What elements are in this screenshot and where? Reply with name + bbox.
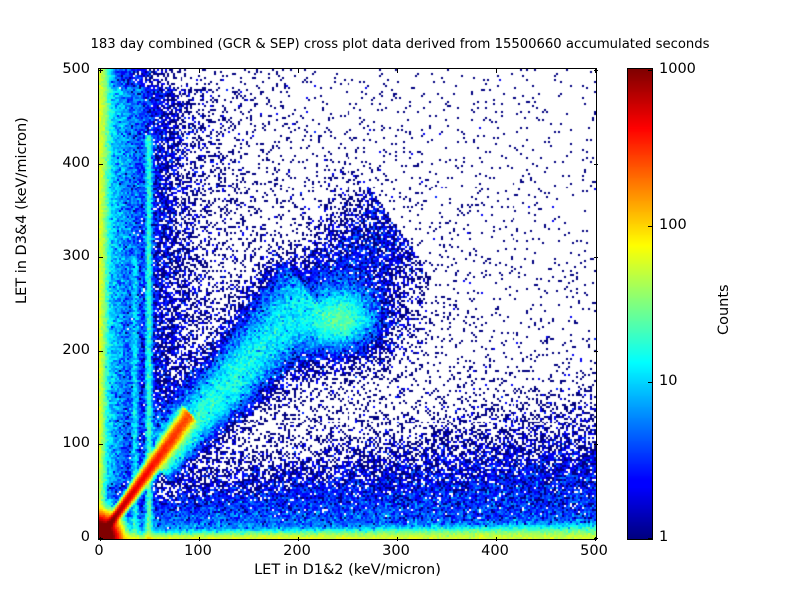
y-tick-right-400 [594,164,598,165]
y-ticklabel-200: 200 [40,342,90,358]
colorbar-tick-1000 [648,70,652,71]
colorbar-ticklabel-100: 100 [659,217,687,233]
plot-title-line-1: 183 day combined (GCR & SEP) cross plot … [0,37,800,53]
x-axis-label: LET in D1&2 (keV/micron) [98,562,597,578]
scatter-heatmap-canvas [99,69,596,539]
x-ticklabel-100: 100 [184,543,212,559]
y-tick-right-0 [594,538,598,539]
x-tick-300 [397,537,398,541]
figure-canvas: 183 day combined (GCR & SEP) cross plot … [0,0,800,600]
x-ticklabel-400: 400 [481,543,509,559]
y-ticklabel-400: 400 [40,155,90,171]
colorbar-tick-100 [648,226,652,227]
y-ticklabel-500: 500 [40,61,90,77]
x-tick-400 [496,537,497,541]
y-tick-0 [99,538,103,539]
x-tick-top-200 [298,69,299,73]
colorbar-frame [627,68,653,540]
y-tick-300 [99,257,103,258]
y-tick-100 [99,444,103,445]
y-ticklabel-0: 0 [40,529,90,545]
colorbar-gradient [628,69,652,539]
x-tick-top-100 [199,69,200,73]
x-tick-top-300 [397,69,398,73]
x-tick-100 [199,537,200,541]
x-ticklabel-0: 0 [94,543,103,559]
x-tick-200 [298,537,299,541]
x-ticklabel-200: 200 [283,543,311,559]
colorbar-ticklabel-1000: 1000 [659,61,696,77]
y-tick-right-100 [594,444,598,445]
x-tick-top-400 [496,69,497,73]
colorbar-ticklabel-10: 10 [659,373,677,389]
colorbar-tick-10 [648,382,652,383]
y-ticklabel-100: 100 [40,435,90,451]
y-tick-200 [99,351,103,352]
x-ticklabel-300: 300 [382,543,410,559]
y-tick-500 [99,70,103,71]
colorbar-label: Counts [716,284,732,335]
x-ticklabel-500: 500 [580,543,608,559]
colorbar-tick-1 [648,538,652,539]
colorbar-ticklabel-1: 1 [659,529,668,545]
y-tick-right-300 [594,257,598,258]
y-tick-right-500 [594,70,598,71]
y-tick-right-200 [594,351,598,352]
y-axis-label: LET in D3&4 (keV/micron) [14,117,30,304]
y-tick-400 [99,164,103,165]
y-ticklabel-300: 300 [40,248,90,264]
plot-axes-frame [98,68,597,540]
